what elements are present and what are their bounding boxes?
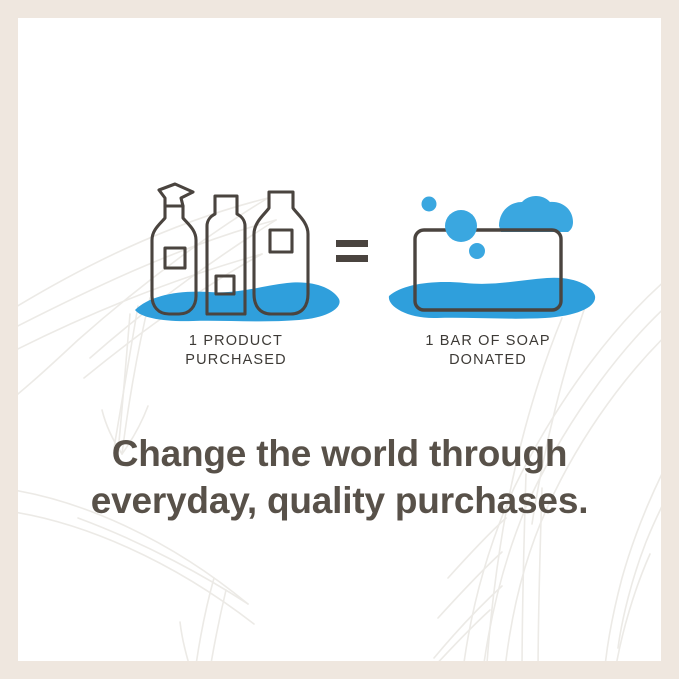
soap-caption: 1 BAR OF SOAP DONATED [373,332,603,370]
comparison-row: 1 PRODUCT PURCHASED [18,168,661,398]
product-icon-block: 1 PRODUCT PURCHASED [121,168,351,398]
water-puddle [389,278,595,319]
headline-line2: everyday, quality purchases. [18,477,661,524]
white-panel: 1 PRODUCT PURCHASED [18,18,661,661]
equals-bar-bottom [336,255,368,262]
bubble-large [445,210,477,242]
equals-bar-top [336,240,368,247]
product-caption-line2: PURCHASED [121,351,351,370]
three-bottles-icon [121,168,351,328]
bubble-small-inner [469,243,485,259]
product-caption-line1: 1 PRODUCT [121,332,351,351]
soap-caption-line1: 1 BAR OF SOAP [373,332,603,351]
soap-icon-block: 1 BAR OF SOAP DONATED [373,168,603,398]
headline-line1: Change the world through [18,430,661,477]
bubble-small-top [422,197,437,212]
soap-bar-icon [373,168,603,328]
soap-caption-line2: DONATED [373,351,603,370]
equals-sign [336,240,370,266]
headline: Change the world through everyday, quali… [18,430,661,524]
product-caption: 1 PRODUCT PURCHASED [121,332,351,370]
promo-graphic: 1 PRODUCT PURCHASED [0,0,679,679]
foam-cloud [499,196,573,232]
